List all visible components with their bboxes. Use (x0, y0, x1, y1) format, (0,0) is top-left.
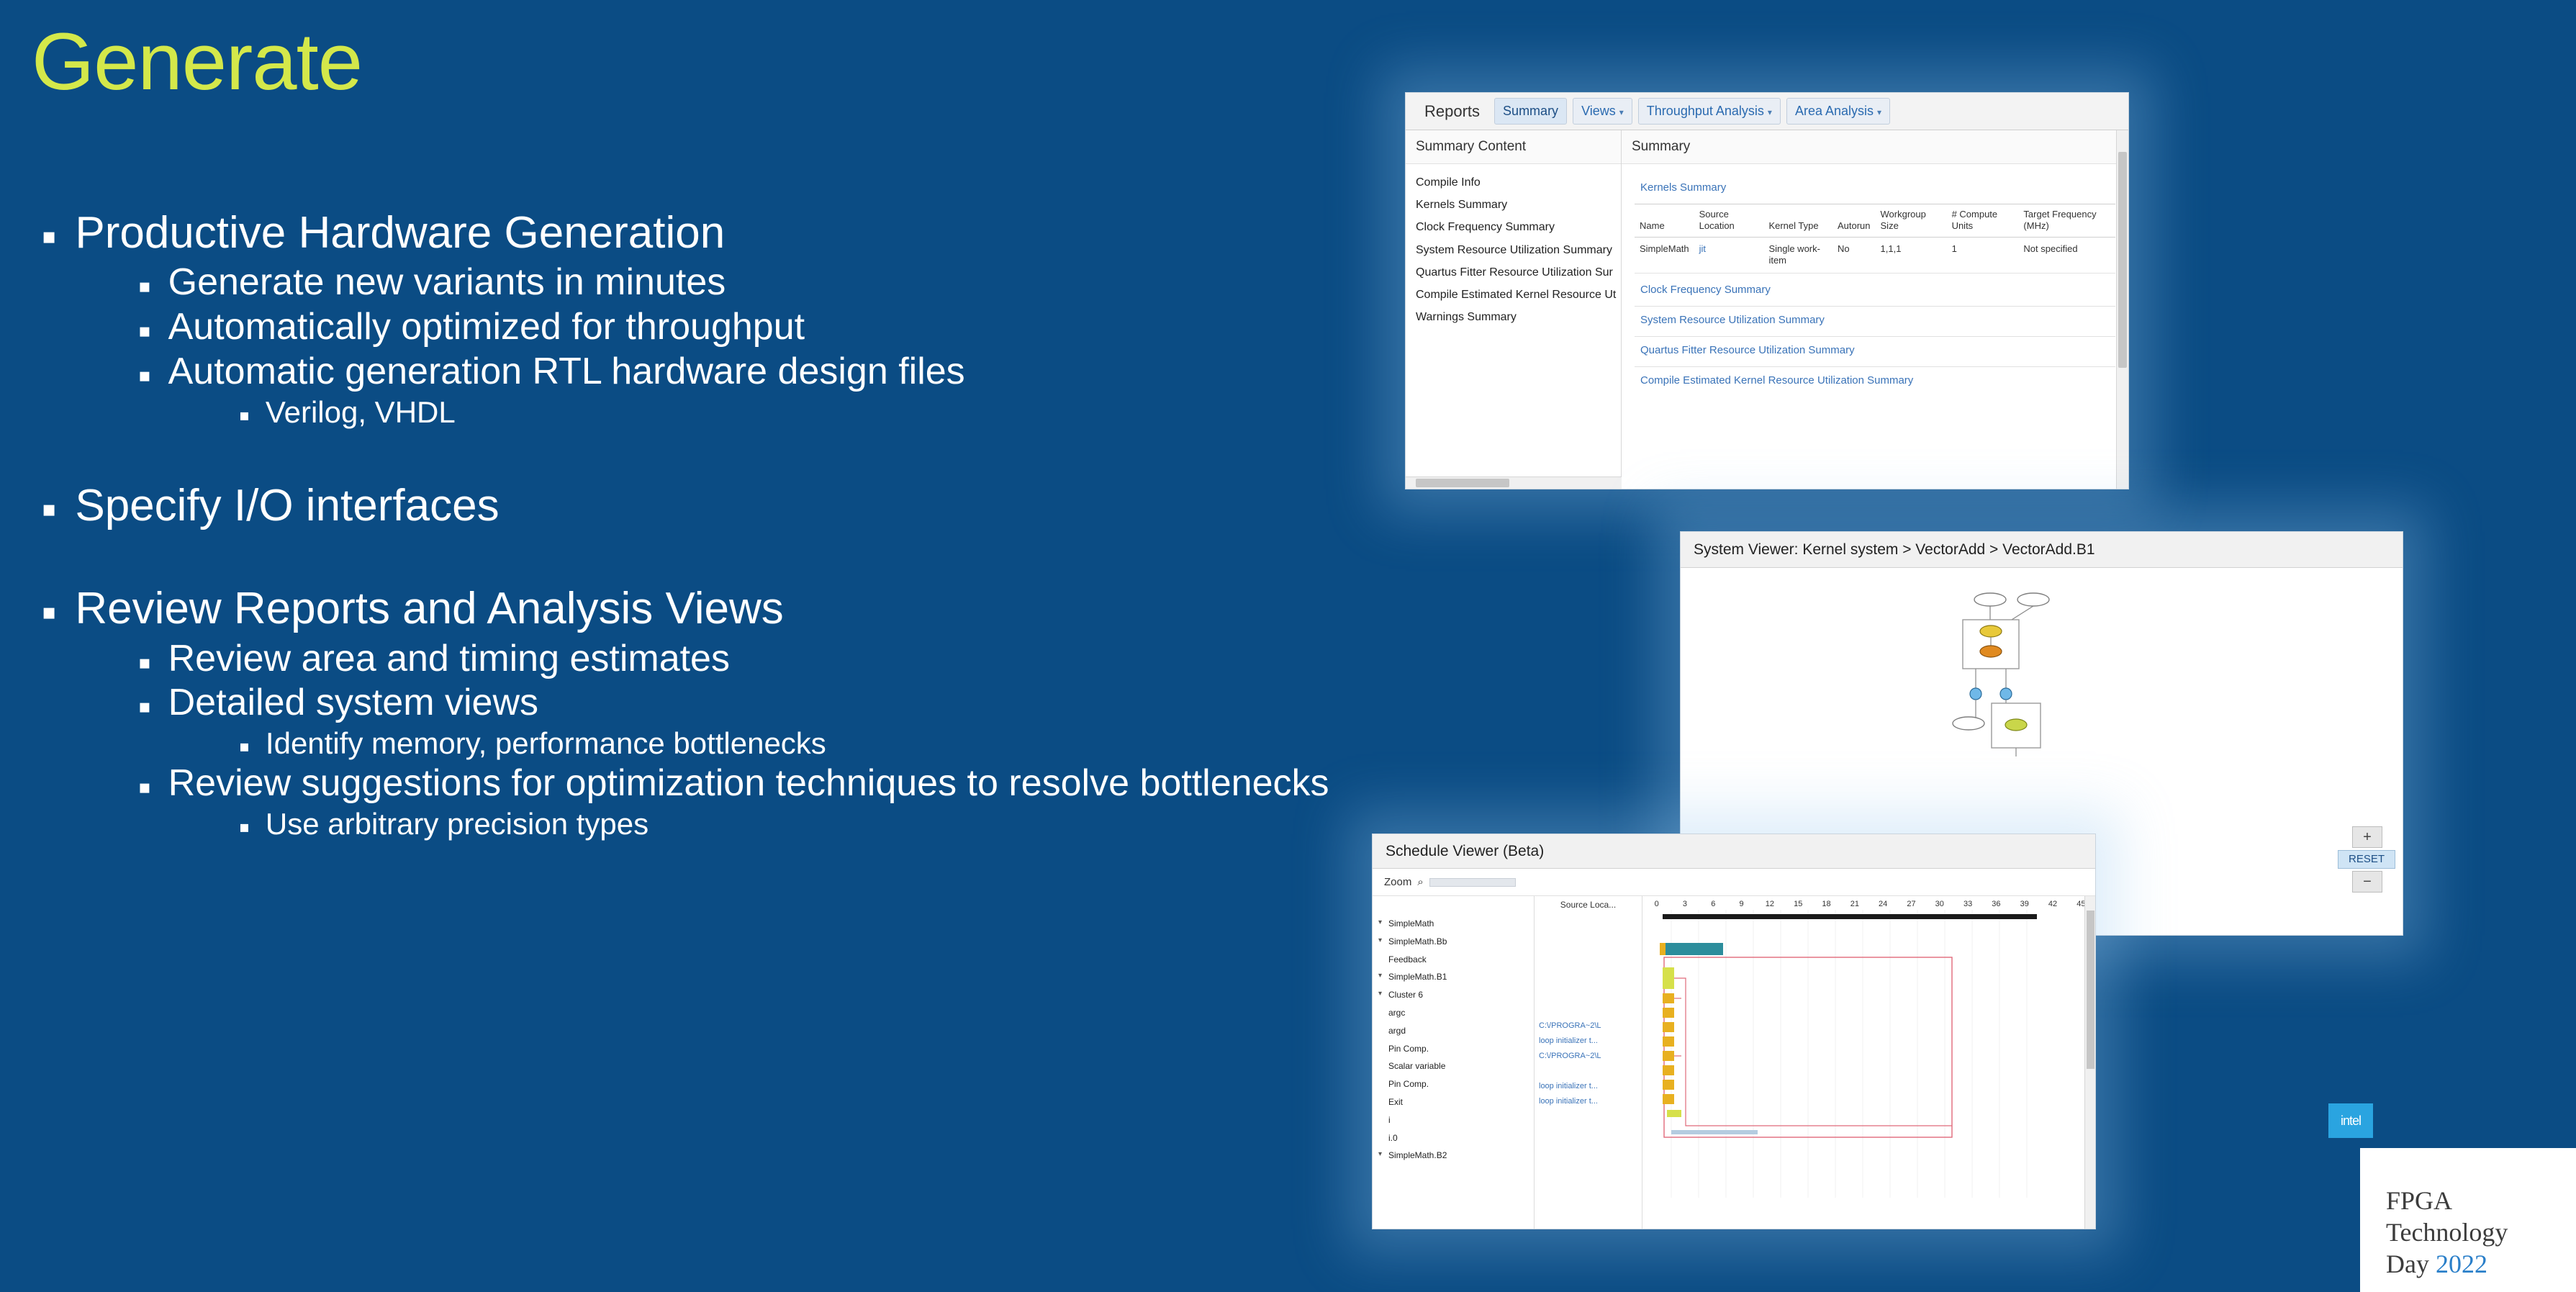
bullet-level2: ▪ Review suggestions for optimization te… (138, 762, 1414, 805)
tab-label: Views (1581, 104, 1616, 118)
list-item[interactable]: Exit (1373, 1093, 1534, 1111)
bullet-level3: ▪ Verilog, VHDL (239, 395, 1414, 430)
cell-workgroup-size: 1,1,1 (1876, 237, 1947, 274)
bullet-marker-icon: ▪ (138, 322, 151, 340)
page-title: Generate (32, 17, 362, 106)
list-item[interactable]: Clock Frequency Summary (1416, 216, 1611, 238)
list-item[interactable]: Kernels Summary (1416, 194, 1611, 216)
bullet-icon (1378, 1112, 1386, 1129)
summary-body: Kernels Summary Name Source Location Ker… (1622, 164, 2128, 407)
bullet-marker-icon: ▪ (239, 739, 250, 755)
tick-label: 39 (2010, 900, 2038, 908)
bullet-icon (1378, 1041, 1386, 1057)
bullet-marker-icon: ▪ (138, 366, 151, 385)
bullet-marker-icon: ▪ (42, 602, 56, 623)
list-item[interactable]: i.0 (1373, 1129, 1534, 1147)
bullet-marker-icon: ▪ (42, 226, 56, 248)
tick-label: 21 (1840, 900, 1868, 908)
tick-label: 15 (1784, 900, 1812, 908)
list-item[interactable]: ▾SimpleMath.B1 (1373, 968, 1534, 986)
reports-panel-screenshot[interactable]: Reports Summary Views▾ Throughput Analys… (1405, 92, 2129, 489)
cell-source (1535, 974, 1642, 989)
bullet-marker-icon: ▪ (138, 697, 151, 716)
row-label: SimpleMath.B2 (1388, 1147, 1447, 1164)
tab-label: Throughput Analysis (1647, 104, 1764, 118)
bullet-text: Identify memory, performance bottlenecks (266, 726, 1414, 761)
bullet-marker-icon: ▪ (239, 820, 250, 836)
brand-block: FPGA Technology Day 2022 (2360, 1148, 2576, 1292)
gantt-bars (1642, 910, 2089, 1198)
list-item[interactable]: i (1373, 1111, 1534, 1129)
cell-source (1535, 913, 1642, 929)
bullet-text: Productive Hardware Generation (75, 207, 1414, 258)
summary-content-header: Summary Content (1406, 130, 1621, 164)
bullet-text: Specify I/O interfaces (75, 480, 1414, 531)
bullet-text: Review area and timing estimates (168, 638, 1414, 681)
reset-button[interactable]: RESET (2338, 850, 2395, 869)
source-location-header: Source Loca... (1535, 896, 1642, 913)
tick-label: 6 (1699, 900, 1727, 908)
cell-name: SimpleMath (1635, 237, 1694, 274)
tick-label: 18 (1812, 900, 1840, 908)
divider (1635, 306, 2115, 307)
schedule-tree-pane: ▾SimpleMath ▾SimpleMath.Bb Feedback ▾Sim… (1373, 896, 1535, 1229)
row-label: Pin Comp. (1388, 1076, 1429, 1093)
list-item[interactable]: ▾SimpleMath.B2 (1373, 1147, 1534, 1165)
expand-icon[interactable]: ▾ (1378, 987, 1386, 1003)
list-item[interactable]: Compile Estimated Kernel Resource Ut (1416, 284, 1611, 306)
tick-label: 30 (1925, 900, 1953, 908)
tick-label: 0 (1642, 900, 1671, 908)
bullet-icon (1378, 1058, 1386, 1075)
cell-source[interactable]: loop initializer t... (1535, 1034, 1642, 1049)
list-item[interactable]: Pin Comp. (1373, 1040, 1534, 1058)
bullet-level2: ▪ Review area and timing estimates (138, 638, 1414, 681)
bullet-icon (1378, 952, 1386, 968)
tick-label: 36 (1982, 900, 2010, 908)
tick-label: 27 (1897, 900, 1925, 908)
bullet-marker-icon: ▪ (138, 277, 151, 296)
intel-logo-text: intel (2341, 1113, 2361, 1129)
system-viewer-title: System Viewer: Kernel system > VectorAdd… (1681, 532, 2403, 568)
summary-content-list: Compile Info Kernels Summary Clock Frequ… (1406, 164, 1621, 335)
tab-summary[interactable]: Summary (1494, 98, 1567, 125)
row-label: Pin Comp. (1388, 1041, 1429, 1057)
bullet-level3: ▪ Identify memory, performance bottlenec… (239, 726, 1414, 761)
cell-compute-units: 1 (1947, 237, 2019, 274)
zoom-out-button[interactable]: − (2352, 871, 2382, 893)
cell-source (1535, 1109, 1642, 1124)
zoom-label: Zoom (1384, 876, 1411, 888)
row-label: Scalar variable (1388, 1058, 1445, 1075)
bullet-level2: ▪ Generate new variants in minutes (138, 261, 1414, 304)
horizontal-scrollbar[interactable] (1406, 476, 1622, 489)
slide-bullet-list: ▪ Productive Hardware Generation ▪ Gener… (32, 207, 1414, 844)
col-workgroup-size: Workgroup Size (1876, 204, 1947, 238)
section-link-system-resource-utilization[interactable]: System Resource Utilization Summary (1640, 314, 2115, 326)
expand-icon[interactable]: ▾ (1378, 1147, 1386, 1164)
col-name: Name (1635, 204, 1694, 238)
row-label: Feedback (1388, 952, 1427, 968)
summary-header: Summary (1622, 130, 2128, 164)
cell-source[interactable]: loop initializer t... (1535, 1094, 1642, 1109)
list-item[interactable]: Scalar variable (1373, 1057, 1534, 1075)
tick-label: 42 (2038, 900, 2066, 908)
list-item[interactable]: Compile Info (1416, 171, 1611, 194)
list-item[interactable]: Warnings Summary (1416, 306, 1611, 328)
tab-throughput-analysis[interactable]: Throughput Analysis▾ (1638, 98, 1781, 125)
reports-title: Reports (1416, 96, 1488, 127)
brand-day-prefix: Day (2386, 1250, 2436, 1278)
tree-header (1373, 896, 1534, 915)
reports-tabbar: Reports Summary Views▾ Throughput Analys… (1406, 93, 2128, 130)
bullet-icon (1378, 1130, 1386, 1147)
cell-source (1535, 929, 1642, 944)
brand-line1: FPGA (2386, 1185, 2508, 1217)
brand-line2: Technology (2386, 1217, 2508, 1249)
vertical-scrollbar[interactable] (2116, 130, 2128, 489)
time-axis: 0 3 6 9 12 15 18 21 24 27 30 33 36 39 42… (1642, 896, 2095, 910)
row-label: Exit (1388, 1094, 1403, 1111)
bullet-marker-icon: ▪ (138, 654, 151, 672)
table-header-row: Name Source Location Kernel Type Autorun… (1635, 204, 2115, 238)
bullet-text: Automatically optimized for throughput (168, 306, 1414, 349)
row-label: argd (1388, 1023, 1406, 1039)
zoom-slider[interactable] (1429, 878, 1516, 887)
tick-label: 12 (1755, 900, 1784, 908)
summary-pane: Summary Kernels Summary Name Source Loca… (1622, 130, 2128, 489)
col-compute-units: # Compute Units (1947, 204, 2019, 238)
section-link-clock-frequency-summary[interactable]: Clock Frequency Summary (1640, 284, 2115, 296)
cell-source (1535, 1003, 1642, 1018)
tick-label: 24 (1869, 900, 1897, 908)
row-label: i (1388, 1112, 1391, 1129)
col-kernel-type: Kernel Type (1763, 204, 1832, 238)
gantt-chart[interactable] (1642, 910, 2095, 1225)
cell-source[interactable]: C:\/PROGRA~2\L (1535, 1018, 1642, 1034)
row-label: SimpleMath (1388, 916, 1434, 932)
section-link-kernels-summary[interactable]: Kernels Summary (1640, 181, 2115, 194)
brand-text: FPGA Technology Day 2022 (2386, 1185, 2508, 1280)
kernels-summary-table: Name Source Location Kernel Type Autorun… (1635, 204, 2115, 274)
tick-label: 33 (1953, 900, 1981, 908)
row-label: SimpleMath.B1 (1388, 969, 1447, 985)
row-label: i.0 (1388, 1130, 1398, 1147)
bullet-level2: ▪ Automatically optimized for throughput (138, 306, 1414, 349)
bullet-text: Detailed system views (168, 682, 1414, 725)
zoom-in-button[interactable]: + (2352, 826, 2382, 848)
cell-autorun: No (1832, 237, 1876, 274)
cell-source[interactable]: C:\/PROGRA~2\L (1535, 1049, 1642, 1064)
scrollbar-thumb[interactable] (2087, 911, 2094, 1069)
schedule-viewer-title: Schedule Viewer (Beta) (1373, 834, 2095, 869)
cell-source (1535, 1064, 1642, 1079)
table-row: SimpleMath jit Single work-item No 1,1,1… (1635, 237, 2115, 274)
scrollbar-thumb[interactable] (2118, 152, 2127, 368)
cell-source (1535, 944, 1642, 959)
brand-line3: Day 2022 (2386, 1249, 2508, 1280)
section-link-quartus-fitter-resource-utilization[interactable]: Quartus Fitter Resource Utilization Summ… (1640, 344, 2115, 356)
bullet-text: Automatic generation RTL hardware design… (168, 351, 1414, 394)
list-item[interactable]: argd (1373, 1022, 1534, 1040)
tab-label: Area Analysis (1795, 104, 1874, 118)
intel-logo: intel (2328, 1103, 2373, 1138)
cell-kernel-type: Single work-item (1763, 237, 1832, 274)
tab-views[interactable]: Views▾ (1573, 98, 1632, 125)
tab-label: Summary (1503, 104, 1558, 118)
bullet-text: Generate new variants in minutes (168, 261, 1414, 304)
list-item[interactable]: Pin Comp. (1373, 1075, 1534, 1093)
gantt-pane[interactable]: 0 3 6 9 12 15 18 21 24 27 30 33 36 39 42… (1642, 896, 2095, 1229)
brand-year: 2022 (2436, 1250, 2487, 1278)
source-location-pane: Source Loca... C:\/PROGRA~2\L loop initi… (1535, 896, 1642, 1229)
divider (1635, 366, 2115, 367)
expand-icon[interactable]: ▾ (1378, 916, 1386, 932)
col-target-frequency: Target Frequency (MHz) (2018, 204, 2115, 238)
cell-source-location[interactable]: jit (1694, 237, 1764, 274)
row-label: Cluster 6 (1388, 987, 1423, 1003)
bullet-level2: ▪ Detailed system views (138, 682, 1414, 725)
col-autorun: Autorun (1832, 204, 1876, 238)
spacer (32, 534, 1414, 583)
bullet-text: Review suggestions for optimization tech… (168, 762, 1414, 805)
tab-area-analysis[interactable]: Area Analysis▾ (1786, 98, 1890, 125)
tick-label: 9 (1727, 900, 1755, 908)
chevron-down-icon: ▾ (1619, 107, 1624, 117)
cell-target-frequency: Not specified (2018, 237, 2115, 274)
chevron-down-icon: ▾ (1877, 107, 1881, 117)
chevron-down-icon: ▾ (1768, 107, 1772, 117)
list-item[interactable]: Quartus Fitter Resource Utilization Sur (1416, 261, 1611, 284)
zoom-controls[interactable]: + RESET − (2351, 824, 2384, 895)
bullet-marker-icon: ▪ (239, 408, 250, 424)
reports-body: Summary Content Compile Info Kernels Sum… (1406, 130, 2128, 489)
expand-icon[interactable]: ▾ (1378, 934, 1386, 950)
col-source-location: Source Location (1694, 204, 1764, 238)
schedule-viewer-body: ▾SimpleMath ▾SimpleMath.Bb Feedback ▾Sim… (1373, 896, 2095, 1229)
list-item[interactable]: ▾SimpleMath (1373, 915, 1534, 933)
list-item[interactable]: ▾Cluster 6 (1373, 986, 1534, 1004)
bullet-level1: ▪ Specify I/O interfaces (42, 480, 1414, 531)
bullet-level1: ▪ Productive Hardware Generation (42, 207, 1414, 258)
list-item[interactable]: ▾SimpleMath.Bb (1373, 933, 1534, 951)
bullet-icon (1378, 1023, 1386, 1039)
bullet-text: Verilog, VHDL (266, 395, 1414, 430)
bullet-marker-icon: ▪ (138, 778, 151, 797)
scrollbar-thumb[interactable] (1416, 479, 1509, 487)
list-item[interactable]: System Resource Utilization Summary (1416, 239, 1611, 261)
bullet-text: Use arbitrary precision types (266, 807, 1414, 841)
bullet-level3: ▪ Use arbitrary precision types (239, 807, 1414, 841)
row-label: SimpleMath.Bb (1388, 934, 1447, 950)
list-item[interactable]: Feedback (1373, 951, 1534, 969)
expand-icon[interactable]: ▾ (1378, 969, 1386, 985)
spacer (32, 431, 1414, 480)
divider (1635, 336, 2115, 337)
tick-label: 3 (1671, 900, 1699, 908)
bullet-text: Review Reports and Analysis Views (75, 583, 1414, 634)
schedule-viewer-screenshot[interactable]: Schedule Viewer (Beta) Zoom ⌕ ▾SimpleMat… (1372, 834, 2096, 1229)
list-item[interactable]: argc (1373, 1004, 1534, 1022)
section-link-compile-estimated-kernel-resource-utilization[interactable]: Compile Estimated Kernel Resource Utiliz… (1640, 374, 2115, 387)
cell-source (1535, 959, 1642, 974)
bullet-icon (1378, 1005, 1386, 1021)
schedule-viewer-toolbar: Zoom ⌕ (1373, 869, 2095, 896)
bullet-marker-icon: ▪ (42, 499, 56, 520)
bullet-icon (1378, 1094, 1386, 1111)
summary-content-pane: Summary Content Compile Info Kernels Sum… (1406, 130, 1622, 489)
bullet-icon (1378, 1076, 1386, 1093)
bullet-level1: ▪ Review Reports and Analysis Views (42, 583, 1414, 634)
vertical-scrollbar[interactable] (2084, 896, 2095, 1229)
search-icon[interactable]: ⌕ (1417, 876, 1423, 888)
cell-source[interactable]: loop initializer t... (1535, 1079, 1642, 1094)
row-label: argc (1388, 1005, 1405, 1021)
bullet-level2: ▪ Automatic generation RTL hardware desi… (138, 351, 1414, 394)
cell-source (1535, 988, 1642, 1003)
